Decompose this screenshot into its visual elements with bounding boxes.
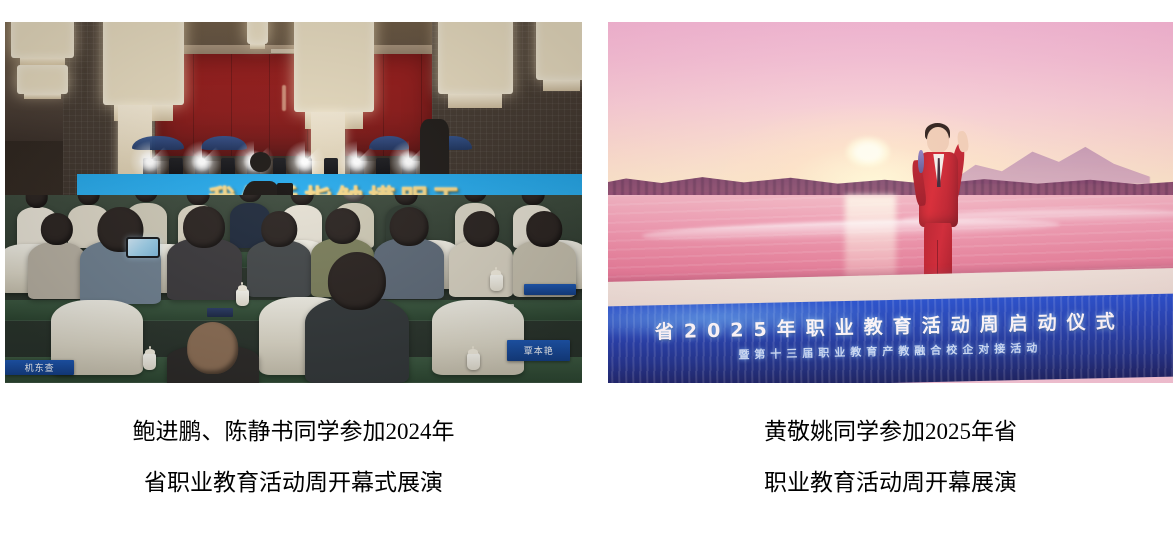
teacup: [490, 274, 503, 291]
performer-head: [927, 127, 949, 153]
chandelier: [17, 65, 69, 94]
name-placard-text: 覃本艳: [524, 344, 554, 357]
caption-left-line1: 鲍进鹏、陈静书同学参加2024年: [133, 419, 455, 444]
notebook: [207, 308, 233, 317]
name-placard-text: 机东查: [25, 361, 55, 374]
caption-right-line2: 职业教育活动周开幕展演: [608, 471, 1173, 494]
figure-right: 省2025年职业教育活动周启动仪式 暨第十三届职业教育产教融合校企对接活动: [608, 22, 1173, 383]
photo-conference-hall: 我们手指触摸明天 作者：胡语 指导：胡语 王雪洁 朗诵：陈静书 鲍进鹏 单位：广…: [5, 22, 582, 383]
audience-person: [167, 345, 259, 383]
chandelier: [247, 22, 267, 44]
stage-scene: 省2025年职业教育活动周启动仪式 暨第十三届职业教育产教融合校企对接活动: [608, 22, 1173, 383]
caption-left: 鲍进鹏、陈静书同学参加2024年 省职业教育活动周开幕式展演: [5, 420, 582, 494]
chandelier: [536, 22, 582, 80]
teacup: [467, 353, 480, 370]
chandelier: [103, 22, 184, 105]
caption-right: 黄敬姚同学参加2025年省 职业教育活动周开幕展演: [608, 420, 1173, 494]
figure-left: 我们手指触摸明天 作者：胡语 指导：胡语 王雪洁 朗诵：陈静书 鲍进鹏 单位：广…: [5, 22, 582, 383]
name-placard: 覃本艳: [507, 340, 570, 362]
stage-led-banner: 省2025年职业教育活动周启动仪式 暨第十三届职业教育产教融合校企对接活动: [608, 293, 1173, 383]
teacup: [143, 353, 156, 370]
audience-person: [28, 242, 86, 298]
chandelier: [438, 22, 513, 94]
audience-area: 机东查: [5, 195, 582, 383]
audience-person: [305, 297, 409, 383]
photo-stage-performance: 省2025年职业教育活动周启动仪式 暨第十三届职业教育产教融合校企对接活动: [608, 22, 1173, 383]
smartphone-recording: [126, 237, 160, 258]
name-placard: 机东查: [5, 360, 74, 375]
teacup: [236, 289, 249, 306]
hall-scene: 我们手指触摸明天 作者：胡语 指导：胡语 王雪洁 朗诵：陈静书 鲍进鹏 单位：广…: [5, 22, 582, 383]
chandelier: [11, 22, 74, 58]
name-placard: [524, 284, 576, 295]
caption-right-line1: 黄敬姚同学参加2025年省: [764, 419, 1017, 444]
audience-person: [449, 240, 512, 296]
document-page: 我们手指触摸明天 作者：胡语 指导：胡语 王雪洁 朗诵：陈静书 鲍进鹏 单位：广…: [0, 0, 1173, 553]
audience-person: [167, 238, 242, 300]
microphone: [918, 150, 924, 173]
backdrop-sun: [846, 137, 890, 167]
caption-left-line2: 省职业教育活动周开幕式展演: [5, 471, 582, 494]
audience-person: [247, 240, 310, 296]
chandelier: [294, 22, 375, 112]
standing-person: [420, 119, 449, 180]
